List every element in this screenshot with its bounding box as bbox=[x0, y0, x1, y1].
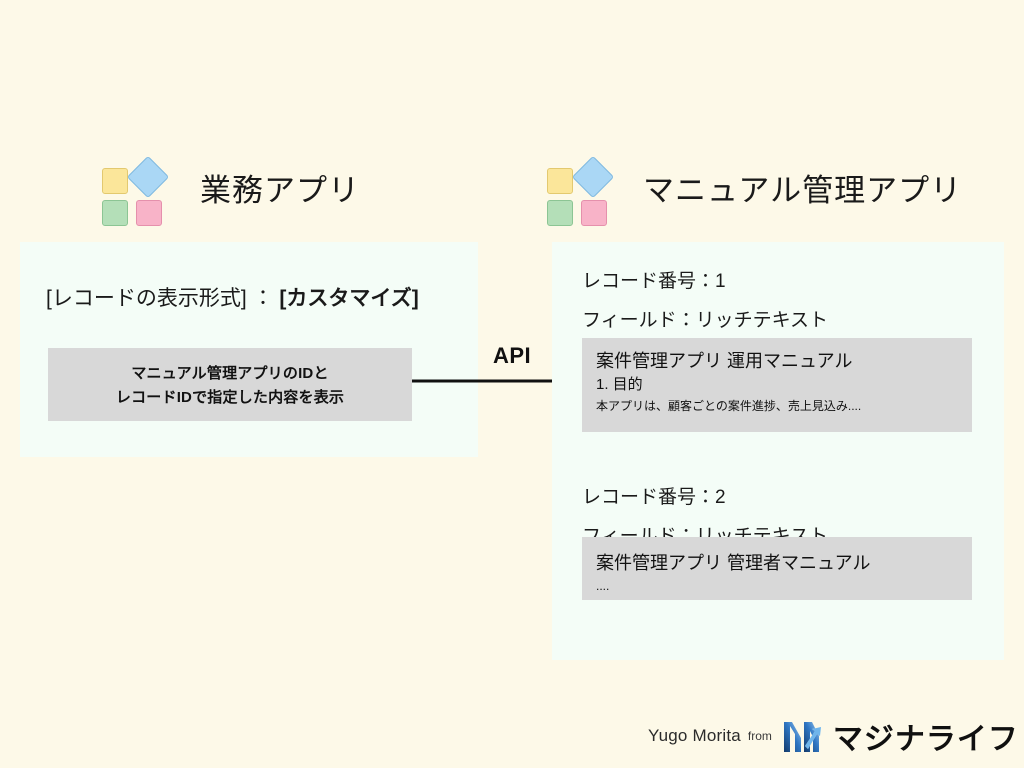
description-line-1: マニュアル管理アプリのIDと bbox=[131, 362, 328, 383]
record-1-richtext-box: 案件管理アプリ 運用マニュアル 1. 目的 本アプリは、顧客ごとの案件進捗、売上… bbox=[582, 338, 972, 432]
setting-value: [カスタマイズ] bbox=[279, 287, 418, 310]
setting-prefix: [レコードの表示形式] ： bbox=[46, 287, 274, 310]
customize-description-box: マニュアル管理アプリのIDと レコードIDで指定した内容を表示 bbox=[48, 348, 412, 421]
right-app-panel: レコード番号：1 フィールド：リッチテキスト 案件管理アプリ 運用マニュアル 1… bbox=[552, 242, 1004, 660]
record-1-number: レコード番号：1 bbox=[582, 266, 726, 293]
author-name: Yugo Morita bbox=[648, 726, 741, 746]
record-1-content-body: 本アプリは、顧客ごとの案件進捗、売上見込み.... bbox=[596, 398, 958, 415]
icon-square-green bbox=[547, 200, 573, 226]
footer-credit: Yugo Morita from マジナライフ bbox=[648, 712, 1019, 760]
kintone-app-icon bbox=[545, 158, 607, 216]
api-label: API bbox=[493, 343, 531, 369]
icon-square-pink bbox=[581, 200, 607, 226]
left-app-panel: [レコードの表示形式] ： [カスタマイズ] マニュアル管理アプリのIDと レコ… bbox=[20, 242, 478, 457]
kintone-app-icon bbox=[100, 158, 162, 216]
majina-life-logo bbox=[781, 716, 829, 756]
from-label: from bbox=[748, 729, 772, 743]
brand-name: マジナライフ bbox=[833, 714, 1019, 758]
record-display-setting: [レコードの表示形式] ： [カスタマイズ] bbox=[46, 282, 419, 312]
icon-square-pink bbox=[136, 200, 162, 226]
record-2-number: レコード番号：2 bbox=[582, 482, 726, 509]
icon-diamond-blue bbox=[127, 156, 169, 198]
icon-square-yellow bbox=[547, 168, 573, 194]
icon-square-yellow bbox=[102, 168, 128, 194]
icon-square-green bbox=[102, 200, 128, 226]
record-2-content-title: 案件管理アプリ 管理者マニュアル bbox=[596, 551, 958, 575]
right-app-header: マニュアル管理アプリ bbox=[545, 158, 962, 216]
description-line-2: レコードIDで指定した内容を表示 bbox=[116, 386, 344, 407]
record-1-field: フィールド：リッチテキスト bbox=[582, 305, 828, 332]
record-2-richtext-box: 案件管理アプリ 管理者マニュアル .... bbox=[582, 537, 972, 600]
record-1-content-title: 案件管理アプリ 運用マニュアル bbox=[596, 349, 958, 373]
record-2-content-heading: .... bbox=[596, 579, 958, 593]
record-1-content-heading: 1. 目的 bbox=[596, 374, 958, 395]
right-app-title: マニュアル管理アプリ bbox=[643, 165, 962, 210]
left-app-header: 業務アプリ bbox=[100, 158, 360, 216]
left-app-title: 業務アプリ bbox=[200, 165, 360, 210]
icon-diamond-blue bbox=[572, 156, 614, 198]
slide-canvas: 業務アプリ [レコードの表示形式] ： [カスタマイズ] マニュアル管理アプリの… bbox=[0, 0, 1024, 768]
